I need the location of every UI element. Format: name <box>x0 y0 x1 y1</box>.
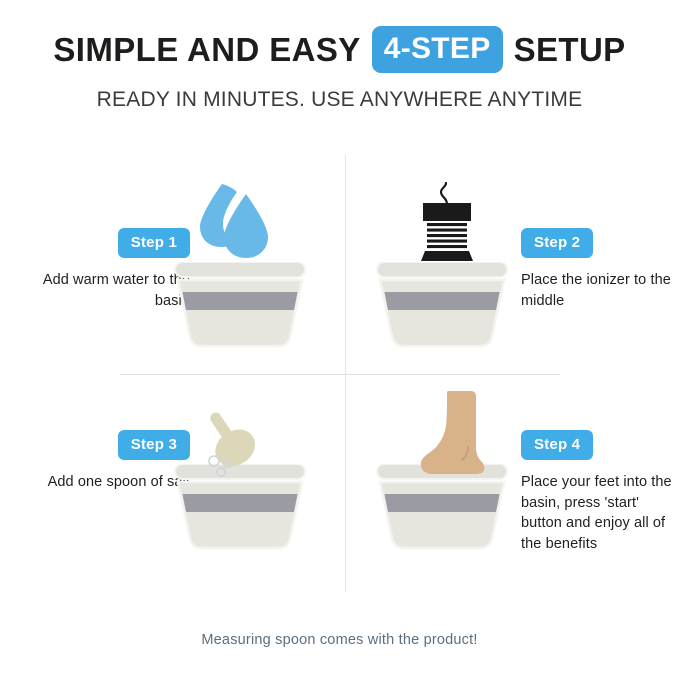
basin-icon-1 <box>170 262 310 355</box>
foot-icon <box>418 390 488 479</box>
page-subtitle: READY IN MINUTES. USE ANYWHERE ANYTIME <box>0 89 679 110</box>
ionizer-icon <box>416 182 478 267</box>
step-block-1: Step 1 Add warm water to the basin <box>30 228 190 311</box>
step-description-2: Place the ionizer to the middle <box>521 270 679 311</box>
step-badge-2: Step 2 <box>521 228 593 258</box>
horizontal-divider <box>120 374 560 375</box>
infographic-page: SIMPLE AND EASY 4-STEP SETUP READY IN MI… <box>0 0 679 679</box>
vertical-divider <box>345 155 346 592</box>
step-badge-1: Step 1 <box>118 228 190 258</box>
step-badge-3: Step 3 <box>118 430 190 460</box>
basin-icon-2 <box>372 262 512 355</box>
step-description-3: Add one spoon of salt <box>30 472 190 493</box>
title-text-after: SETUP <box>514 33 626 66</box>
step-description-1: Add warm water to the basin <box>30 270 190 311</box>
page-title: SIMPLE AND EASY 4-STEP SETUP <box>0 26 679 73</box>
footer-note: Measuring spoon comes with the product! <box>0 632 679 648</box>
step-block-2: Step 2 Place the ionizer to the middle <box>521 228 679 311</box>
step-block-4: Step 4 Place your feet into the basin, p… <box>521 430 679 554</box>
water-drops-icon <box>196 182 276 265</box>
step-badge-4: Step 4 <box>521 430 593 460</box>
title-highlight-badge: 4-STEP <box>372 26 503 73</box>
step-description-4: Place your feet into the basin, press 's… <box>521 472 679 554</box>
header: SIMPLE AND EASY 4-STEP SETUP READY IN MI… <box>0 26 679 110</box>
measuring-spoon-icon <box>200 398 278 483</box>
title-text-before: SIMPLE AND EASY <box>53 33 360 66</box>
step-block-3: Step 3 Add one spoon of salt <box>30 430 190 493</box>
